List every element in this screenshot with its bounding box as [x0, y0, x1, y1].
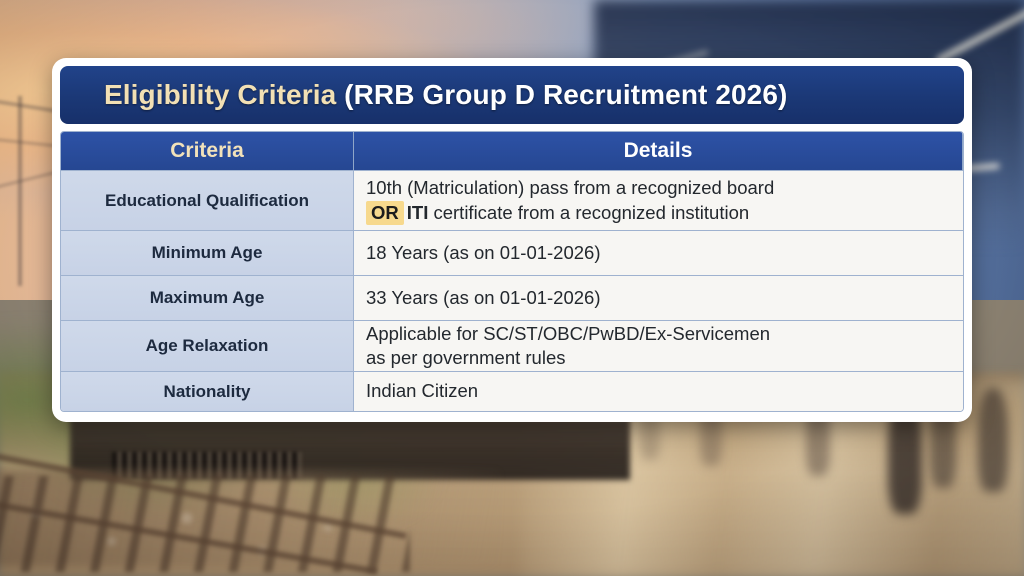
table-row: Educational Qualification 10th (Matricul… [61, 170, 963, 230]
cell-details-maximum-age: 33 Years (as on 01-01-2026) [354, 275, 963, 320]
card-title-bar: Eligibility Criteria (RRB Group D Recrui… [60, 66, 964, 124]
page-title-highlight: Eligibility Criteria [104, 79, 336, 110]
cell-criteria-maximum-age: Maximum Age [61, 275, 354, 320]
screenshot-stage: Eligibility Criteria (RRB Group D Recrui… [0, 0, 1024, 576]
table-row: Minimum Age 18 Years (as on 01-01-2026) [61, 230, 963, 275]
cell-criteria-educational-qualification: Educational Qualification [61, 170, 354, 230]
details-line-1: Applicable for SC/ST/OBC/PwBD/Ex-Service… [366, 323, 770, 344]
table-row: Nationality Indian Citizen [61, 371, 963, 411]
eligibility-table: Criteria Details Educational Qualificati… [60, 131, 964, 412]
cell-details-educational-qualification: 10th (Matriculation) pass from a recogni… [354, 170, 963, 230]
details-line-2: as per government rules [366, 346, 770, 370]
cell-details-minimum-age: 18 Years (as on 01-01-2026) [354, 230, 963, 275]
table-row: Age Relaxation Applicable for SC/ST/OBC/… [61, 320, 963, 371]
cell-criteria-age-relaxation: Age Relaxation [61, 320, 354, 371]
cell-criteria-minimum-age: Minimum Age [61, 230, 354, 275]
cell-details-nationality: Indian Citizen [354, 371, 963, 411]
table-row: Maximum Age 33 Years (as on 01-01-2026) [61, 275, 963, 320]
details-line-1: 10th (Matriculation) pass from a recogni… [366, 177, 774, 198]
column-header-criteria: Criteria [61, 132, 354, 170]
table-header-row: Criteria Details [61, 132, 963, 170]
eligibility-card: Eligibility Criteria (RRB Group D Recrui… [52, 58, 972, 422]
cell-criteria-nationality: Nationality [61, 371, 354, 411]
cell-details-age-relaxation: Applicable for SC/ST/OBC/PwBD/Ex-Service… [354, 320, 963, 371]
page-title: Eligibility Criteria (RRB Group D Recrui… [104, 79, 787, 111]
details-line-2-rest: certificate from a recognized institutio… [428, 202, 749, 223]
or-badge: OR [366, 201, 404, 225]
iti-label: ITI [407, 202, 429, 223]
page-title-subtitle: (RRB Group D Recruitment 2026) [336, 79, 787, 110]
column-header-details: Details [354, 132, 963, 170]
details-line-2: ORITI certificate from a recognized inst… [366, 201, 774, 225]
